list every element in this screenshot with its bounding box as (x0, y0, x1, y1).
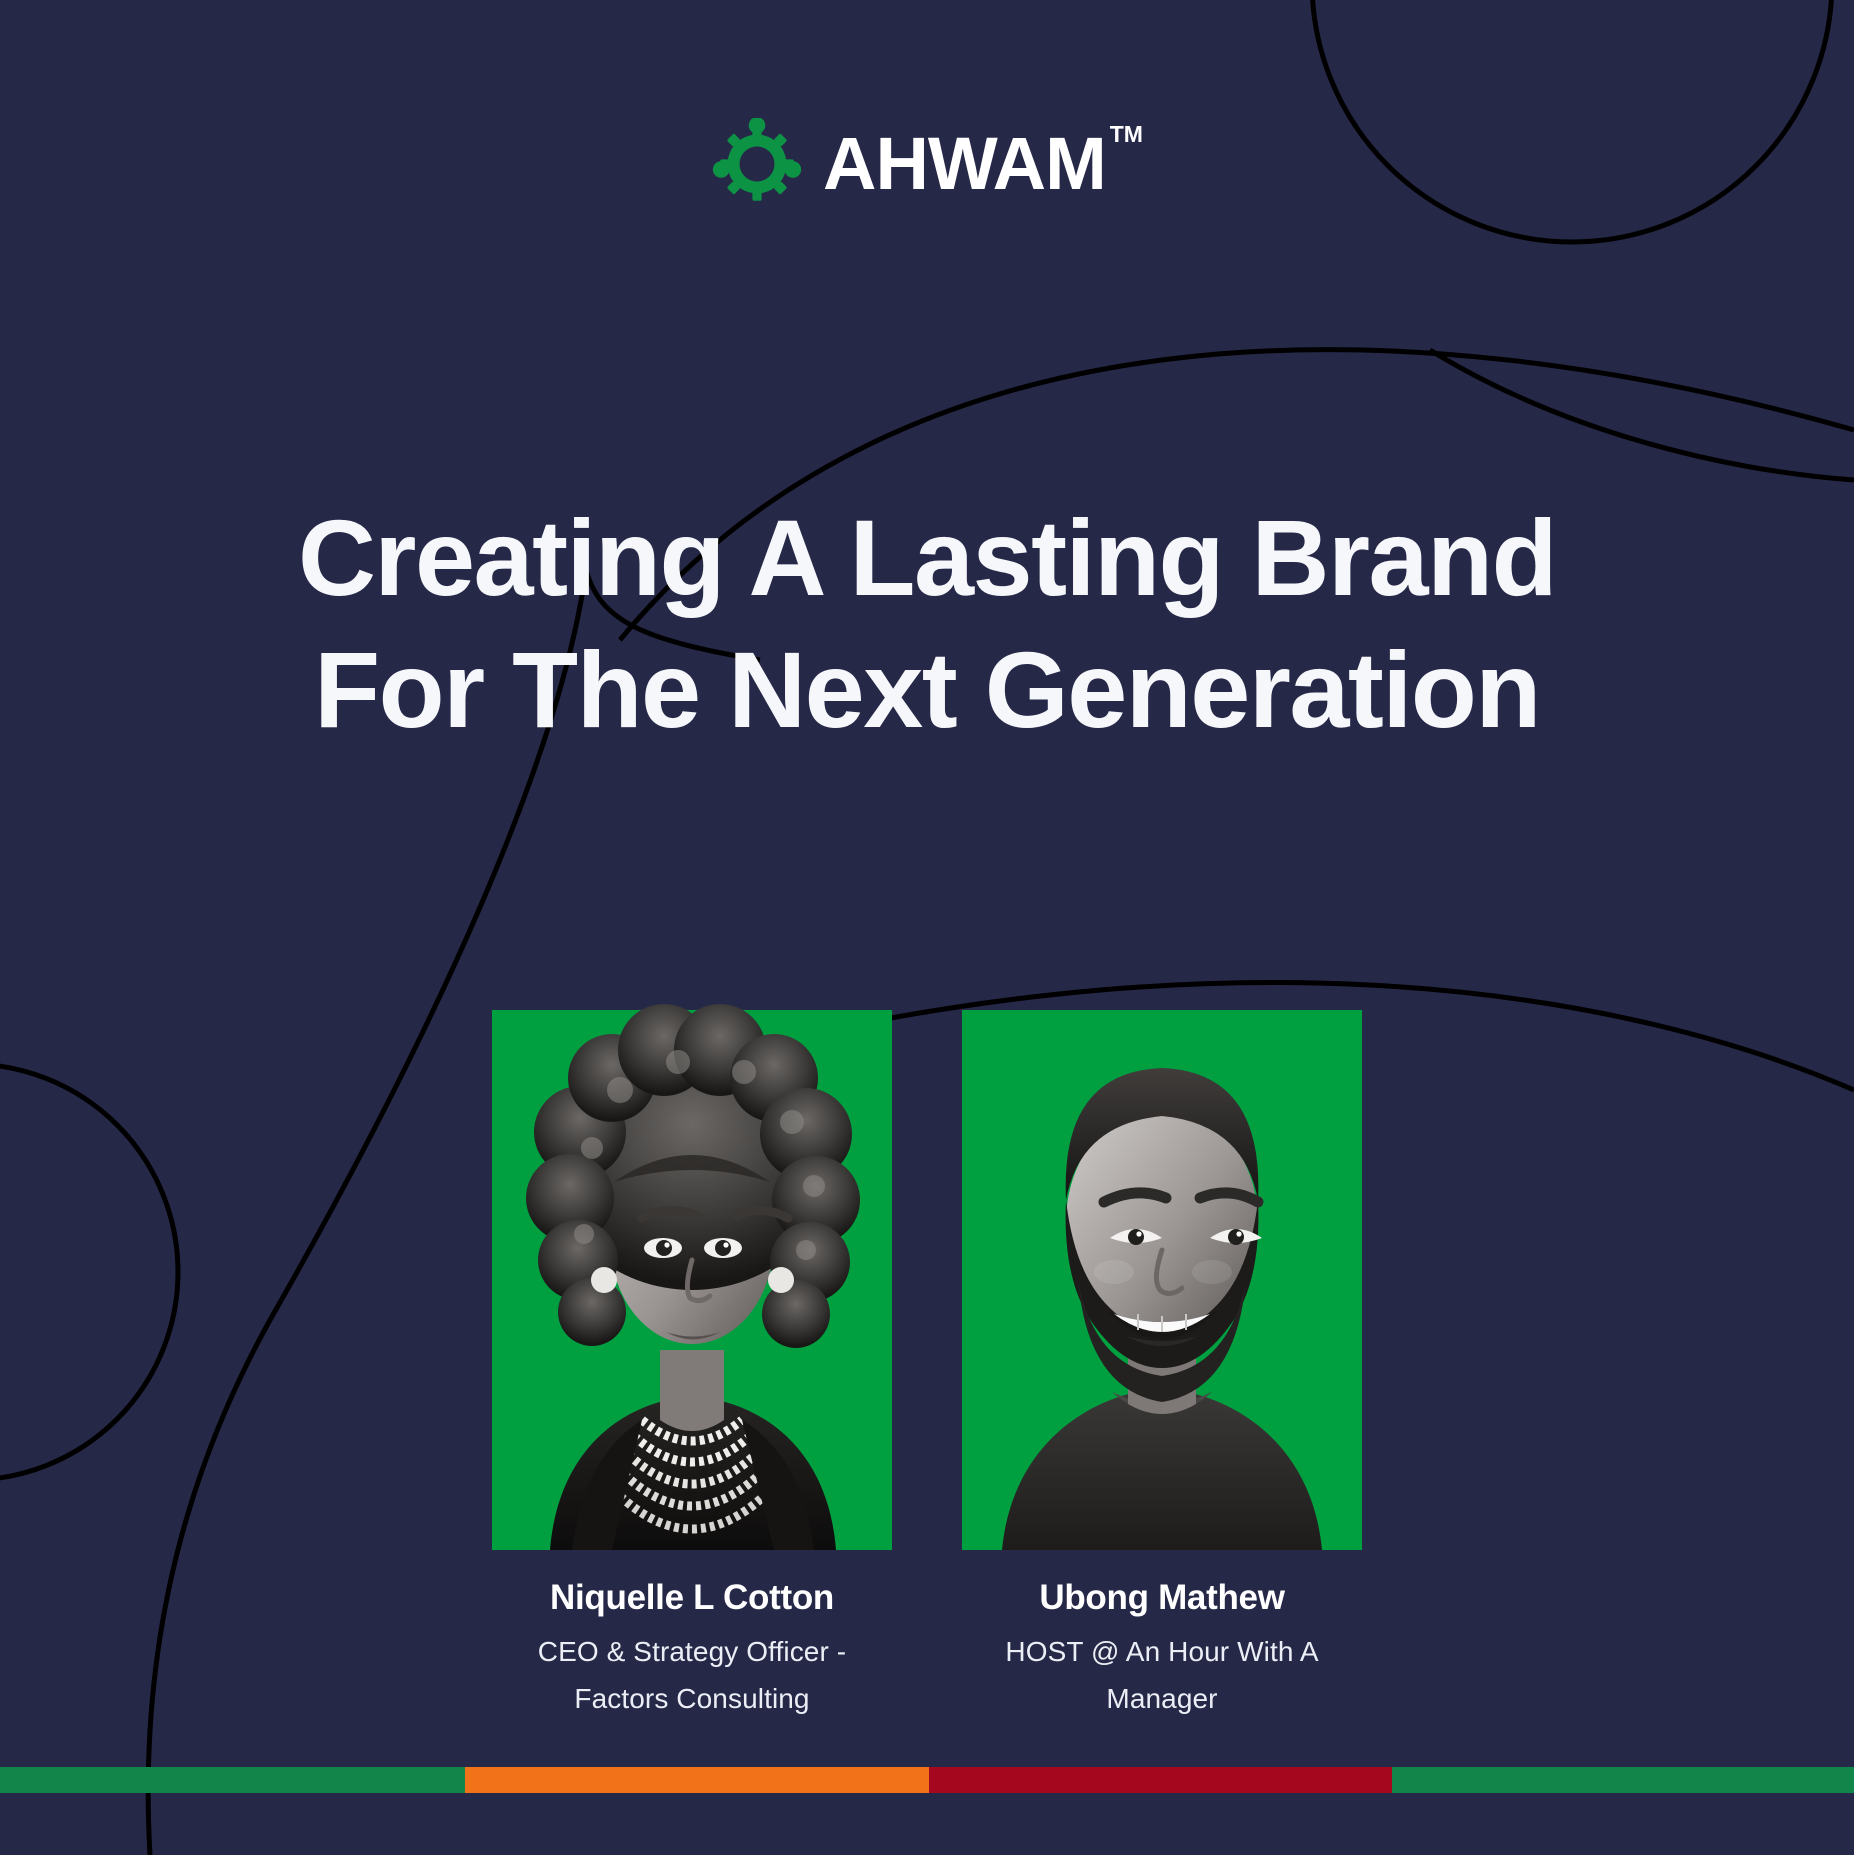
bottom-color-bar (0, 1767, 1854, 1793)
bar-segment-red (929, 1767, 1393, 1793)
portrait-niquelle-l-cotton (492, 950, 892, 1550)
bar-segment-green-right (1392, 1767, 1854, 1793)
speaker-name: Niquelle L Cotton (496, 1576, 888, 1620)
speaker-role: HOST @ An Hour With A Manager (966, 1628, 1358, 1723)
speaker-caption-1: Niquelle L Cotton CEO & Strategy Officer… (492, 1576, 892, 1723)
brand-logo: AHWAM TM (0, 118, 1854, 210)
speaker-list: Niquelle L Cotton CEO & Strategy Officer… (0, 1010, 1854, 1723)
trademark-mark: TM (1110, 123, 1143, 146)
bar-segment-green-left (0, 1767, 465, 1793)
headline-line-2: For The Next Generation (120, 624, 1734, 756)
speaker-photo-1 (492, 1010, 892, 1550)
brand-name: AHWAM (823, 127, 1106, 201)
speaker-photo-2 (962, 1010, 1362, 1550)
portrait-ubong-mathew (962, 950, 1362, 1550)
speaker-card-1: Niquelle L Cotton CEO & Strategy Officer… (492, 1010, 892, 1723)
page-title: Creating A Lasting Brand For The Next Ge… (0, 492, 1854, 756)
flyer-canvas: AHWAM TM Creating A Lasting Brand For Th… (0, 0, 1854, 1855)
decor-arc-mid (1430, 350, 1854, 480)
speaker-name: Ubong Mathew (966, 1576, 1358, 1620)
people-gear-icon (711, 118, 803, 210)
headline-line-1: Creating A Lasting Brand (298, 497, 1556, 618)
bar-segment-orange (465, 1767, 929, 1793)
speaker-caption-2: Ubong Mathew HOST @ An Hour With A Manag… (962, 1576, 1362, 1723)
speaker-role: CEO & Strategy Officer - Factors Consult… (496, 1628, 888, 1723)
speaker-card-2: Ubong Mathew HOST @ An Hour With A Manag… (962, 1010, 1362, 1723)
